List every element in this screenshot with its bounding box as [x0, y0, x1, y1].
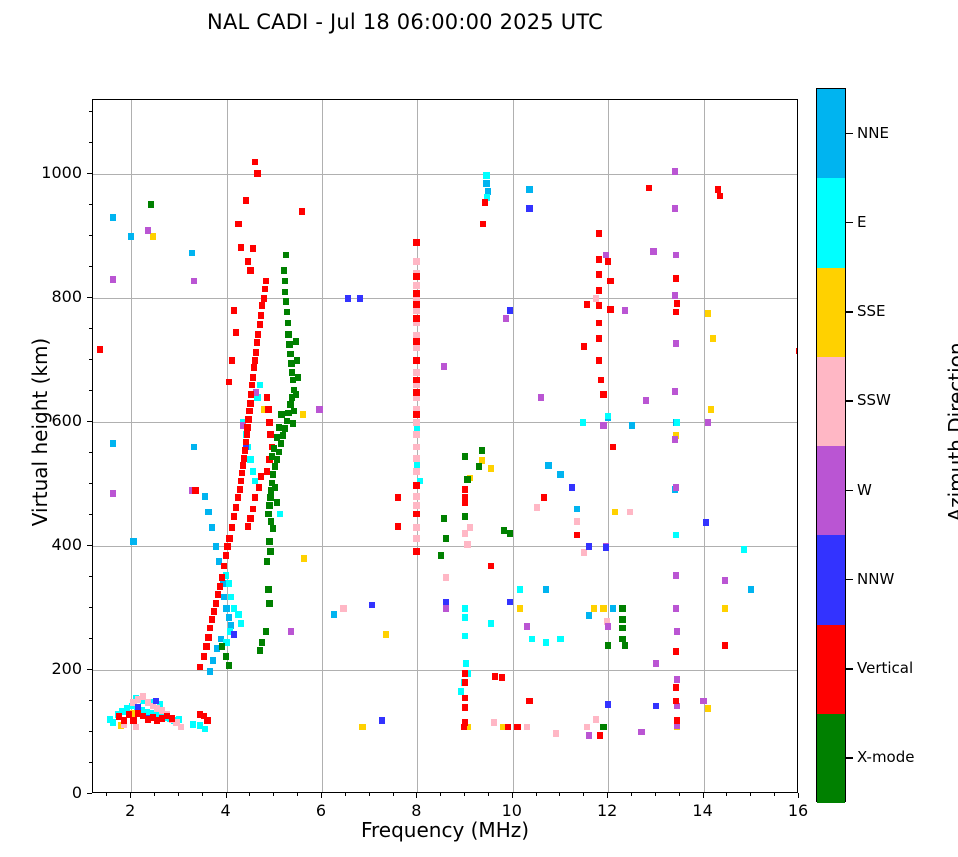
data-point-x-mode	[282, 278, 288, 285]
data-point-w	[673, 340, 679, 347]
data-point-x-mode	[257, 647, 263, 654]
data-point-ssw	[581, 549, 587, 556]
data-point-e	[238, 620, 244, 627]
data-point-x-mode	[507, 530, 513, 537]
data-point-vertical	[252, 494, 258, 501]
data-point-ssw	[534, 504, 540, 511]
data-point-vertical	[259, 302, 265, 309]
data-point-nne	[526, 186, 532, 193]
data-point-vertical	[488, 563, 494, 570]
x-tick	[345, 793, 346, 796]
y-tick-label: 200	[22, 659, 82, 678]
data-point-vertical	[264, 394, 270, 401]
colorbar-segment-ssw[interactable]	[817, 357, 845, 446]
colorbar-segment-vertical[interactable]	[817, 625, 845, 714]
data-point-nnw	[153, 698, 159, 705]
data-point-w	[705, 419, 711, 426]
y-tick	[89, 731, 92, 732]
data-point-vertical	[462, 704, 468, 711]
data-point-ssw	[584, 724, 590, 731]
data-point-nnw	[443, 599, 449, 606]
data-point-e	[543, 639, 549, 646]
data-point-ssw	[413, 468, 419, 475]
data-point-nne	[629, 422, 635, 429]
data-point-sse	[705, 705, 711, 712]
colorbar-label-e: E	[857, 213, 866, 231]
data-point-w	[288, 628, 294, 635]
data-point-vertical	[596, 335, 602, 342]
data-point-w	[653, 660, 659, 667]
data-point-w	[672, 436, 678, 443]
x-tick	[178, 793, 179, 796]
data-point-x-mode	[622, 642, 628, 649]
data-point-x-mode	[284, 309, 290, 316]
x-tick	[297, 793, 298, 796]
data-point-vertical	[253, 349, 259, 356]
x-tick	[464, 793, 465, 796]
data-point-sse	[612, 509, 618, 516]
data-point-nne	[586, 612, 592, 619]
data-point-x-mode	[284, 418, 290, 425]
data-point-x-mode	[219, 643, 225, 650]
data-point-vertical	[596, 287, 602, 294]
data-point-vertical	[482, 199, 488, 206]
data-point-vertical	[252, 357, 258, 364]
data-point-vertical	[674, 717, 680, 724]
data-point-ssw	[178, 724, 184, 731]
data-point-vertical	[229, 357, 235, 364]
data-point-vertical	[499, 674, 505, 681]
y-tick	[87, 297, 92, 298]
data-point-w	[586, 732, 592, 739]
data-point-w	[538, 394, 544, 401]
data-point-vertical	[413, 482, 419, 489]
data-point-w	[110, 490, 116, 497]
data-point-x-mode	[443, 535, 449, 542]
data-point-vertical	[607, 278, 613, 285]
data-point-x-mode	[259, 639, 265, 646]
data-point-vertical	[674, 300, 680, 307]
data-point-w	[622, 307, 628, 314]
data-point-e	[462, 633, 468, 640]
data-point-vertical	[596, 302, 602, 309]
data-point-vertical	[541, 494, 547, 501]
data-point-nne	[191, 444, 197, 451]
data-point-sse	[301, 555, 307, 562]
data-point-vertical	[250, 506, 256, 513]
data-point-vertical	[250, 245, 256, 252]
colorbar-segment-x-mode[interactable]	[817, 714, 845, 803]
data-point-vertical	[596, 256, 602, 263]
data-point-x-mode	[276, 424, 282, 431]
data-point-e	[580, 419, 586, 426]
data-point-vertical	[224, 543, 230, 550]
data-point-nne	[574, 506, 580, 513]
y-tick	[89, 204, 92, 205]
data-point-vertical	[596, 230, 602, 237]
data-point-vertical	[413, 315, 419, 322]
data-point-vertical	[203, 643, 209, 650]
y-tick	[89, 142, 92, 143]
data-point-vertical	[505, 724, 511, 731]
data-point-w	[673, 484, 679, 491]
data-point-x-mode	[272, 484, 278, 491]
y-tick	[89, 576, 92, 577]
colorbar-title: Azimuth Direction	[944, 282, 958, 582]
data-point-x-mode	[290, 420, 296, 427]
x-tick	[559, 793, 560, 796]
data-point-w	[672, 388, 678, 395]
colorbar-segment-w[interactable]	[817, 446, 845, 535]
data-point-nne	[221, 594, 227, 601]
y-tick	[89, 235, 92, 236]
data-point-vertical	[395, 523, 401, 530]
x-tick	[393, 793, 394, 796]
data-point-w	[672, 168, 678, 175]
data-point-vertical	[247, 515, 253, 522]
data-point-vertical	[229, 524, 235, 531]
gridline-horizontal	[93, 546, 797, 547]
data-point-x-mode	[266, 502, 272, 509]
data-point-x-mode	[266, 600, 272, 607]
x-tick	[226, 793, 227, 798]
data-point-e	[673, 532, 679, 539]
data-point-x-mode	[295, 374, 301, 381]
data-point-vertical	[581, 343, 587, 350]
data-point-nne	[110, 214, 116, 221]
data-point-vertical	[215, 591, 221, 598]
data-point-x-mode	[283, 252, 289, 259]
data-point-w	[722, 577, 728, 584]
colorbar-label-x-mode: X-mode	[857, 748, 914, 766]
data-point-vertical	[231, 513, 237, 520]
data-point-sse	[600, 605, 606, 612]
x-tick	[202, 793, 203, 796]
y-tick	[87, 421, 92, 422]
x-tick	[536, 793, 537, 796]
data-point-x-mode	[605, 642, 611, 649]
colorbar-label-nnw: NNW	[857, 570, 894, 588]
data-point-vertical	[248, 391, 254, 398]
colorbar[interactable]	[816, 88, 846, 802]
data-point-x-mode	[280, 432, 286, 439]
y-tick	[87, 793, 92, 794]
data-point-vertical	[243, 197, 249, 204]
data-point-ssw	[491, 719, 497, 726]
data-point-vertical	[413, 239, 419, 246]
y-tick-label: 0	[22, 783, 82, 802]
colorbar-label-w: W	[857, 481, 872, 499]
data-point-vertical	[413, 548, 419, 555]
data-point-ssw	[413, 431, 419, 438]
data-point-w	[503, 315, 509, 322]
data-point-nne	[189, 250, 195, 257]
data-point-vertical	[250, 374, 256, 381]
data-point-vertical	[209, 616, 215, 623]
data-point-sse	[591, 605, 597, 612]
data-point-vertical	[233, 504, 239, 511]
data-point-x-mode	[287, 351, 293, 358]
data-point-vertical	[462, 670, 468, 677]
data-point-nnw	[703, 519, 709, 526]
data-point-vertical	[258, 312, 264, 319]
colorbar-tick	[846, 490, 853, 491]
plot-canvas[interactable]	[93, 100, 797, 792]
gridline-horizontal	[93, 174, 797, 175]
data-point-e	[190, 721, 196, 728]
data-point-x-mode	[619, 616, 625, 623]
data-point-ssw	[467, 524, 473, 531]
data-point-nne	[210, 657, 216, 664]
x-tick	[154, 793, 155, 796]
data-point-vertical	[97, 346, 103, 353]
data-point-vertical	[492, 673, 498, 680]
data-point-sse	[705, 310, 711, 317]
data-point-nnw	[345, 295, 351, 302]
ionogram-figure: NAL CADI - Jul 18 06:00:00 2025 UTC 2468…	[0, 0, 958, 857]
y-tick-label: 1000	[22, 163, 82, 182]
data-point-ssw	[462, 530, 468, 537]
data-point-sse	[300, 411, 306, 418]
data-point-e	[605, 413, 611, 420]
y-tick	[89, 266, 92, 267]
data-point-x-mode	[264, 558, 270, 565]
data-point-nne	[205, 509, 211, 516]
data-point-vertical	[673, 648, 679, 655]
data-point-vertical	[169, 715, 175, 722]
data-point-vertical	[246, 408, 252, 415]
data-point-vertical	[238, 244, 244, 251]
data-point-vertical	[574, 532, 580, 539]
data-point-x-mode	[464, 476, 470, 483]
x-tick	[369, 793, 370, 796]
colorbar-segment-e[interactable]	[817, 178, 845, 267]
data-point-w	[191, 278, 197, 285]
x-tick	[679, 793, 680, 796]
y-tick	[89, 700, 92, 701]
x-tick	[488, 793, 489, 796]
data-point-vertical	[205, 634, 211, 641]
data-point-x-mode	[263, 628, 269, 635]
x-tick	[631, 793, 632, 796]
colorbar-tick	[846, 222, 853, 223]
data-point-ssw	[593, 295, 599, 302]
colorbar-segment-nnw[interactable]	[817, 535, 845, 624]
data-point-x-mode	[281, 267, 287, 274]
data-point-vertical	[462, 679, 468, 686]
data-point-vertical	[262, 286, 268, 293]
x-tick	[273, 793, 274, 796]
data-point-vertical	[197, 664, 203, 671]
data-point-vertical	[600, 391, 606, 398]
data-point-ssw	[413, 444, 419, 451]
data-point-nne	[202, 493, 208, 500]
data-point-vertical	[462, 695, 468, 702]
data-point-vertical	[211, 608, 217, 615]
data-point-x-mode	[274, 434, 280, 441]
data-point-w	[441, 363, 447, 370]
data-point-vertical	[245, 416, 251, 423]
y-tick	[89, 483, 92, 484]
data-point-ssw	[413, 524, 419, 531]
data-point-ssw	[524, 724, 530, 731]
data-point-sse	[710, 335, 716, 342]
data-point-vertical	[121, 717, 127, 724]
data-point-vertical	[413, 301, 419, 308]
data-point-vertical	[413, 357, 419, 364]
data-point-vertical	[462, 486, 468, 493]
data-point-sse	[150, 233, 156, 240]
data-point-nne	[557, 471, 563, 478]
data-point-nne	[545, 462, 551, 469]
data-point-x-mode	[619, 625, 625, 632]
data-point-vertical	[413, 389, 419, 396]
data-point-w	[672, 205, 678, 212]
data-point-w	[672, 292, 678, 299]
data-point-nnw	[231, 631, 237, 638]
y-tick	[87, 173, 92, 174]
data-point-e	[517, 586, 523, 593]
data-point-ssw	[413, 493, 419, 500]
data-point-ssw	[413, 455, 419, 462]
y-tick	[89, 359, 92, 360]
data-point-nnw	[379, 717, 385, 724]
data-point-vertical	[526, 698, 532, 705]
data-point-w	[673, 252, 679, 259]
plot-area[interactable]	[92, 99, 798, 793]
gridline-vertical	[322, 100, 323, 792]
data-point-sse	[383, 631, 389, 638]
x-tick	[703, 793, 704, 798]
y-tick	[89, 607, 92, 608]
data-point-x-mode	[291, 408, 297, 415]
data-point-ssw	[413, 419, 419, 426]
colorbar-tick	[846, 757, 853, 758]
data-point-vertical	[598, 377, 604, 384]
data-point-x-mode	[600, 724, 606, 731]
data-point-x-mode	[285, 320, 291, 327]
data-point-e	[462, 605, 468, 612]
data-point-vertical	[226, 379, 232, 386]
data-point-nne	[207, 668, 213, 675]
data-point-vertical	[607, 306, 613, 313]
data-point-ssw	[413, 282, 419, 289]
data-point-ssw	[413, 307, 419, 314]
data-point-w	[673, 605, 679, 612]
data-point-vertical	[646, 185, 652, 192]
data-point-w	[145, 227, 151, 234]
data-point-e	[226, 580, 232, 587]
data-point-e	[250, 468, 256, 475]
data-point-ssw	[413, 344, 419, 351]
gridline-horizontal	[93, 422, 797, 423]
data-point-nnw	[357, 295, 363, 302]
data-point-vertical	[597, 732, 603, 739]
data-point-vertical	[722, 642, 728, 649]
data-point-vertical	[265, 406, 271, 413]
data-point-w	[638, 729, 644, 736]
x-tick	[130, 793, 131, 798]
data-point-x-mode	[441, 515, 447, 522]
data-point-vertical	[717, 193, 723, 200]
data-point-vertical	[247, 400, 253, 407]
colorbar-segment-nne[interactable]	[817, 89, 845, 178]
data-point-vertical	[255, 331, 261, 338]
x-tick	[750, 793, 751, 796]
gridline-horizontal	[93, 298, 797, 299]
data-point-ssw	[553, 730, 559, 737]
data-point-nne	[331, 611, 337, 618]
colorbar-segment-sse[interactable]	[817, 268, 845, 357]
data-point-vertical	[257, 321, 263, 328]
gridline-vertical	[704, 100, 705, 792]
data-point-x-mode	[223, 653, 229, 660]
data-point-vertical	[480, 221, 486, 228]
data-point-vertical	[251, 364, 257, 371]
data-point-vertical	[413, 411, 419, 418]
data-point-nnw	[605, 701, 611, 708]
data-point-nnw	[507, 599, 513, 606]
data-point-vertical	[673, 698, 679, 705]
data-point-vertical	[217, 583, 223, 590]
data-point-ssw	[133, 724, 139, 731]
data-point-vertical	[596, 357, 602, 364]
data-point-vertical	[263, 278, 269, 285]
data-point-vertical	[242, 447, 248, 454]
data-point-x-mode	[476, 463, 482, 470]
data-point-sse	[517, 605, 523, 612]
data-point-e	[462, 614, 468, 621]
data-point-nnw	[603, 544, 609, 551]
data-point-nne	[110, 440, 116, 447]
y-tick	[89, 514, 92, 515]
data-point-nnw	[369, 602, 375, 609]
data-point-ssw	[443, 574, 449, 581]
data-point-nne	[226, 614, 232, 621]
data-point-e	[557, 636, 563, 643]
data-point-x-mode	[462, 453, 468, 460]
data-point-nne	[128, 233, 134, 240]
data-point-vertical	[221, 563, 227, 570]
data-point-vertical	[413, 273, 419, 280]
data-point-x-mode	[294, 357, 300, 364]
data-point-vertical	[241, 455, 247, 462]
x-tick	[512, 793, 513, 798]
colorbar-tick	[846, 133, 853, 134]
data-point-nne	[209, 524, 215, 531]
data-point-nne	[213, 543, 219, 550]
data-point-x-mode	[462, 513, 468, 520]
data-point-vertical	[413, 338, 419, 345]
data-point-vertical	[238, 478, 244, 485]
data-point-vertical	[584, 301, 590, 308]
data-point-vertical	[610, 444, 616, 451]
data-point-vertical	[413, 290, 419, 297]
data-point-w	[316, 406, 322, 413]
data-point-e	[483, 172, 489, 179]
colorbar-label-sse: SSE	[857, 302, 886, 320]
data-point-w	[600, 422, 606, 429]
colorbar-tick	[846, 668, 853, 669]
x-tick	[774, 793, 775, 796]
data-point-vertical	[245, 523, 251, 530]
data-point-nnw	[586, 543, 592, 550]
data-point-nne	[748, 586, 754, 593]
data-point-vertical	[462, 499, 468, 506]
x-tick	[321, 793, 322, 798]
x-tick	[416, 793, 417, 798]
data-point-x-mode	[270, 525, 276, 532]
